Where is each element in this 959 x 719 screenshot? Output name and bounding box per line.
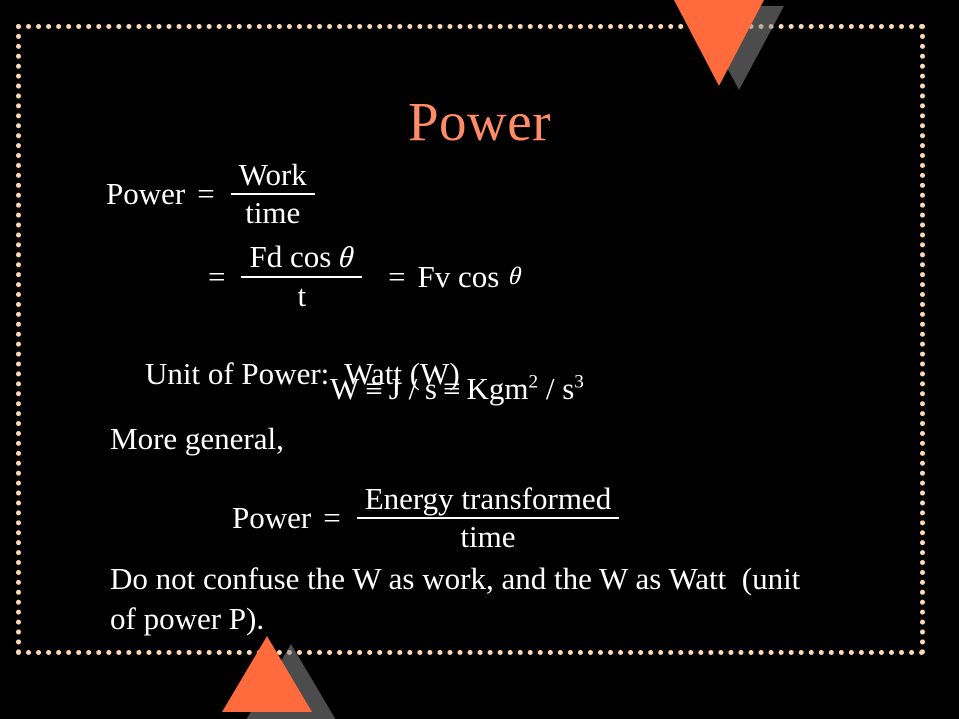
equation-power-work-time: Power = Work time xyxy=(106,158,319,230)
equation2-equals: = xyxy=(196,259,237,295)
slide-title: Power xyxy=(0,92,959,152)
fraction-energy-over-time: Energy transformed time xyxy=(357,482,620,554)
fraction-numerator: Energy transformed xyxy=(357,482,620,517)
theta-symbol-icon: θ xyxy=(498,263,523,291)
equation2-equals-2: = xyxy=(366,259,417,295)
identical-to-icon: ≡ xyxy=(359,371,388,406)
fraction-denominator: time xyxy=(237,195,308,230)
equation3-lead: Power xyxy=(232,500,311,536)
equation1-equals: = xyxy=(185,176,226,212)
exponent-2: 2 xyxy=(528,372,538,393)
fraction-numerator-text: Fd cos xyxy=(249,239,331,274)
equation-power-energy-time: Power = Energy transformed time xyxy=(232,482,623,554)
equivalence-per-second: / s xyxy=(546,371,574,406)
slide-canvas: Power Power = Work time = Fd cosθ t = Fv… xyxy=(0,0,959,719)
note-line-1: Do not confuse the W as work, and the W … xyxy=(110,561,800,597)
bottom-left-triangle-decoration xyxy=(218,634,348,719)
upward-triangle-icon xyxy=(222,636,312,712)
equation3-equals: = xyxy=(311,500,352,536)
equivalence-w: W xyxy=(330,371,359,406)
exponent-3: 3 xyxy=(574,372,584,393)
identical-to-icon: ≡ xyxy=(437,371,466,406)
top-right-triangle-decoration xyxy=(670,0,790,92)
equivalence-kgm: Kgm xyxy=(466,371,528,406)
fraction-work-over-time: Work time xyxy=(231,158,315,230)
unit-equivalence-line: W≡J / s≡Kgm2 / s3 xyxy=(330,371,584,407)
theta-symbol-icon: θ xyxy=(330,241,356,275)
fraction-numerator: Fd cosθ xyxy=(241,240,362,276)
fraction-numerator: Work xyxy=(231,158,315,193)
downward-triangle-icon xyxy=(674,0,764,86)
equivalence-joule-per-second: J / s xyxy=(389,371,437,406)
equation2-right-text: Fv cos xyxy=(418,259,500,295)
note-line-2: of power P). xyxy=(110,601,264,637)
fraction-fdcos-over-t: Fd cosθ t xyxy=(241,240,362,313)
unit-of-power-label: Unit of Power: xyxy=(145,356,329,391)
equation1-lead: Power xyxy=(106,176,185,212)
fraction-denominator: t xyxy=(289,278,314,313)
more-general-label: More general, xyxy=(110,421,284,457)
fraction-denominator: time xyxy=(452,519,523,554)
equation-fd-cos-theta: = Fd cosθ t = Fv cos θ xyxy=(196,240,522,313)
